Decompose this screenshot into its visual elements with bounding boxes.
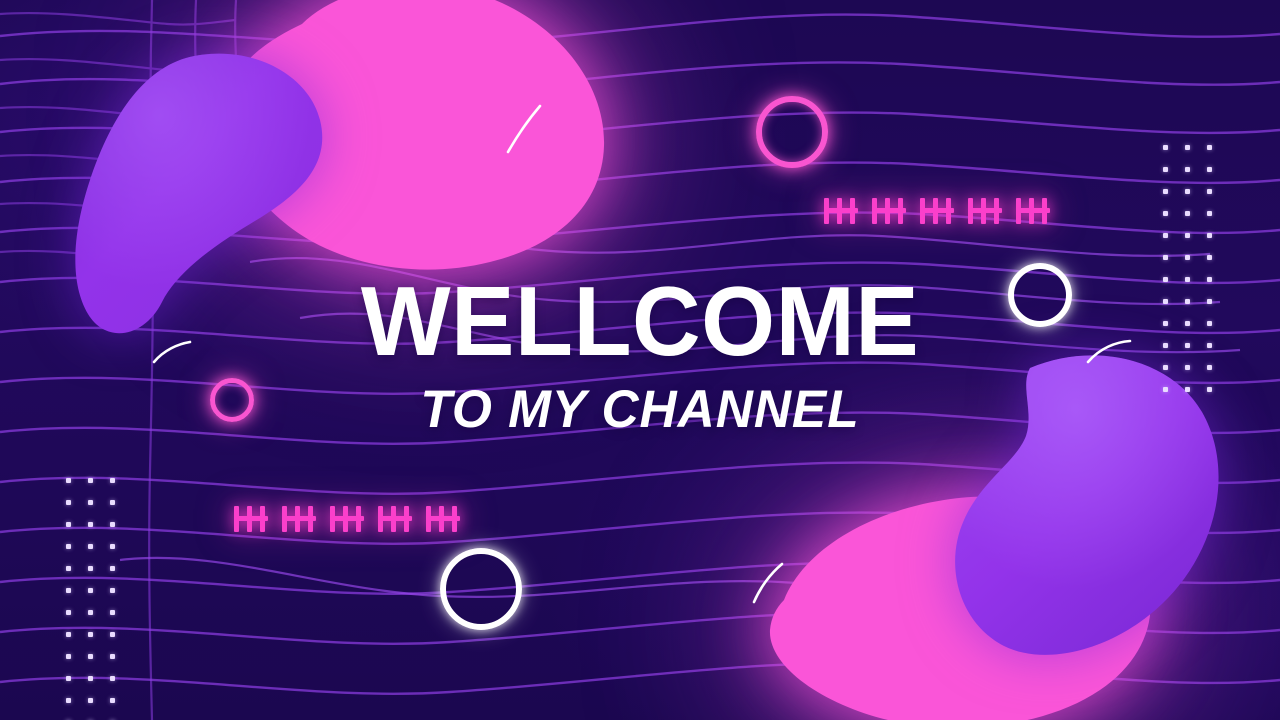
tally-group xyxy=(968,198,1002,224)
page-subtitle: TO MY CHANNEL xyxy=(19,383,1261,436)
ring-pink-top-right xyxy=(756,96,828,168)
tally-group xyxy=(234,506,268,532)
tally-group xyxy=(378,506,412,532)
ring-white-bottom xyxy=(440,548,522,630)
tally-group xyxy=(872,198,906,224)
tally-group xyxy=(330,506,364,532)
tally-top-right xyxy=(824,198,1050,224)
tally-bottom-left xyxy=(234,506,460,532)
tally-group xyxy=(426,506,460,532)
welcome-banner: WELLCOME TO MY CHANNEL xyxy=(0,0,1280,720)
arc-bottom-left-icon xyxy=(748,560,788,606)
tally-group xyxy=(1016,198,1050,224)
tally-group xyxy=(282,506,316,532)
dot-grid-left xyxy=(66,478,115,720)
page-title: WELLCOME xyxy=(19,273,1261,369)
text-block: WELLCOME TO MY CHANNEL xyxy=(0,273,1280,436)
tally-group xyxy=(920,198,954,224)
arc-top-left-icon xyxy=(498,100,548,160)
tally-group xyxy=(824,198,858,224)
